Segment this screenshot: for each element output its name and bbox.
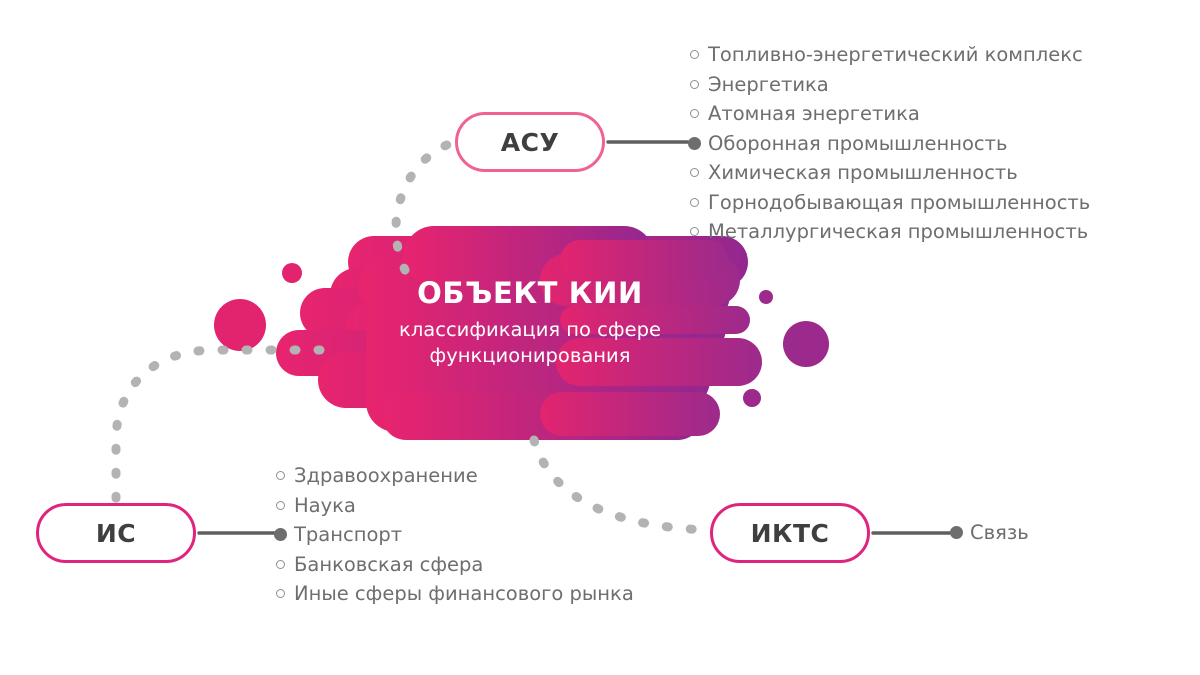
bullet-hollow-icon [276, 471, 285, 480]
node-is[interactable]: ИС [36, 503, 196, 563]
list-item-label: Банковская сфера [294, 553, 483, 576]
list-item[interactable]: Здравоохранение [276, 461, 634, 491]
list-item-label: Наука [294, 494, 356, 517]
list-item[interactable]: Химическая промышленность [690, 158, 1090, 188]
bullet-filled-icon [950, 526, 963, 539]
diagram-canvas: ОБЪЕКТ КИИ классификация по сфере функци… [0, 0, 1200, 675]
list-item-label: Транспорт [294, 523, 402, 546]
node-asu[interactable]: АСУ [455, 112, 605, 172]
bullet-filled-icon [688, 137, 701, 150]
dashed-link-center-to-asu [396, 142, 455, 270]
list-item[interactable]: Атомная энергетика [690, 99, 1090, 129]
list-item[interactable]: Металлургическая промышленность [690, 217, 1090, 247]
list-item-label: Атомная энергетика [708, 102, 920, 125]
list-item[interactable]: Топливно-энергетический комплекс [690, 40, 1090, 70]
node-asu-label: АСУ [501, 130, 559, 155]
list-item-label: Оборонная промышленность [708, 132, 1007, 155]
list-iktc: Связь [952, 518, 1029, 548]
list-asu: Топливно-энергетический комплексЭнергети… [690, 40, 1090, 247]
list-is: ЗдравоохранениеНаукаТранспортБанковская … [276, 461, 634, 609]
list-item[interactable]: Связь [952, 518, 1029, 548]
node-is-label: ИС [96, 521, 136, 546]
bullet-hollow-icon [690, 168, 699, 177]
bullet-hollow-icon [276, 501, 285, 510]
list-item[interactable]: Иные сферы финансового рынка [276, 579, 634, 609]
list-item-label: Иные сферы финансового рынка [294, 582, 634, 605]
list-item-label: Горнодобывающая промышленность [708, 191, 1090, 214]
list-item-label: Энергетика [708, 73, 829, 96]
list-item-label: Связь [970, 521, 1029, 544]
node-iktc-label: ИКТС [751, 521, 830, 546]
list-item[interactable]: Энергетика [690, 70, 1090, 100]
node-iktc[interactable]: ИКТС [710, 503, 870, 563]
list-item[interactable]: Горнодобывающая промышленность [690, 188, 1090, 218]
bullet-hollow-icon [276, 560, 285, 569]
bullet-hollow-icon [690, 80, 699, 89]
list-item-label: Топливно-энергетический комплекс [708, 43, 1083, 66]
list-item[interactable]: Наука [276, 491, 634, 521]
bullet-hollow-icon [690, 198, 699, 207]
list-item-label: Химическая промышленность [708, 161, 1018, 184]
list-item[interactable]: Банковская сфера [276, 550, 634, 580]
list-item[interactable]: Оборонная промышленность [690, 129, 1090, 159]
bullet-filled-icon [274, 528, 287, 541]
list-item-label: Металлургическая промышленность [708, 220, 1088, 243]
bullet-hollow-icon [276, 589, 285, 598]
bullet-hollow-icon [690, 227, 699, 236]
bullet-hollow-icon [690, 109, 699, 118]
list-item-label: Здравоохранение [294, 464, 478, 487]
bullet-hollow-icon [690, 50, 699, 59]
list-item[interactable]: Транспорт [276, 520, 634, 550]
